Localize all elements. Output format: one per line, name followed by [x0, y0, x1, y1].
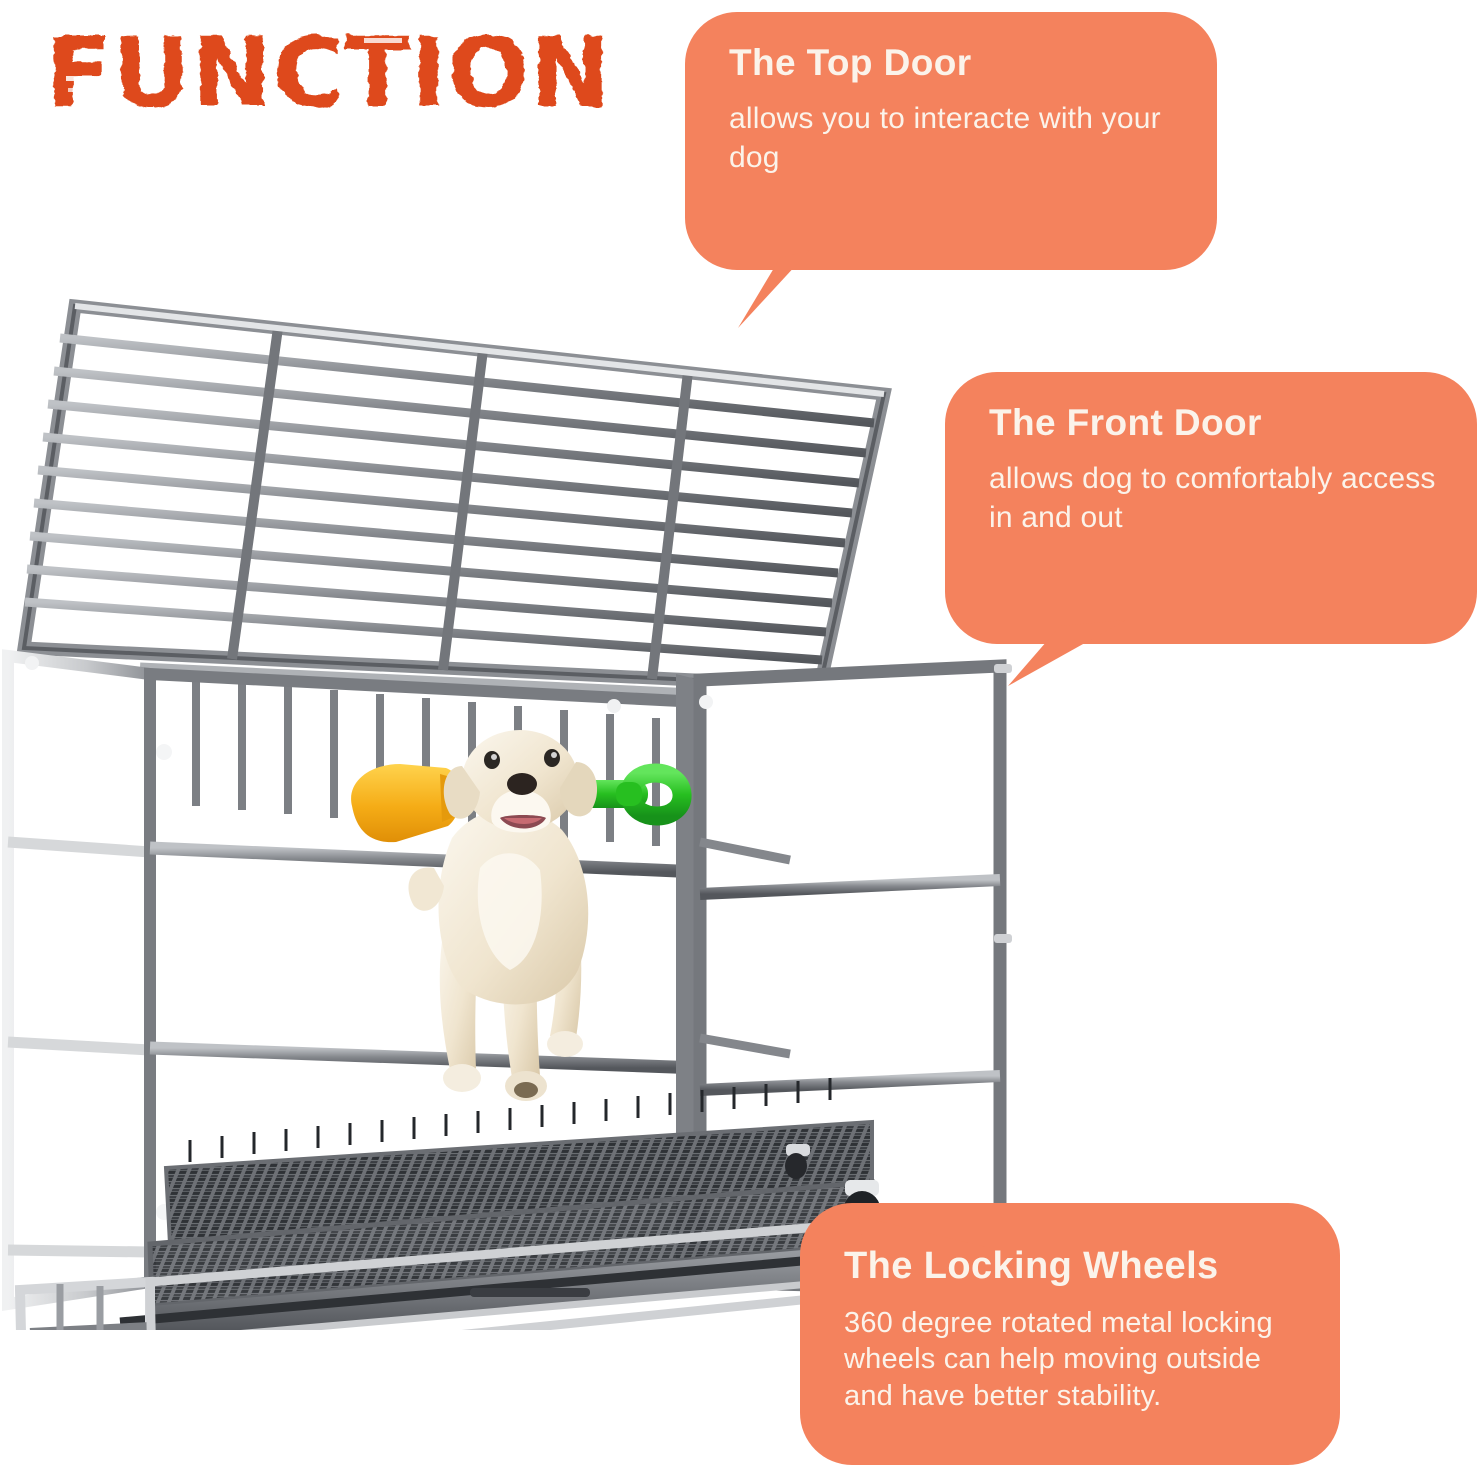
callout-top-door: The Top Door allows you to interacte wit…	[685, 12, 1217, 270]
callout-front-door-title: The Front Door	[989, 402, 1443, 445]
callout-top-door-body: allows you to interacte with your dog	[729, 99, 1183, 177]
callout-top-door-title: The Top Door	[729, 42, 1183, 85]
callout-front-door: The Front Door allows dog to comfortably…	[945, 372, 1477, 644]
left-side-panel	[8, 656, 150, 1304]
golden-retriever-puppy	[400, 718, 620, 1118]
page-title: FUNCTION	[46, 18, 606, 130]
callout-locking-wheels-body: 360 degree rotated metal locking wheels …	[844, 1305, 1306, 1415]
callout-locking-wheels-title: The Locking Wheels	[844, 1245, 1306, 1289]
top-door-panel[interactable]	[24, 306, 884, 686]
callout-locking-wheels-tail	[840, 1160, 1070, 1250]
callout-top-door-tail	[660, 250, 840, 340]
callout-front-door-body: allows dog to comfortably access in and …	[989, 459, 1443, 537]
page-title-text: FUNCTION	[46, 18, 606, 129]
callout-front-door-tail	[980, 620, 1170, 700]
